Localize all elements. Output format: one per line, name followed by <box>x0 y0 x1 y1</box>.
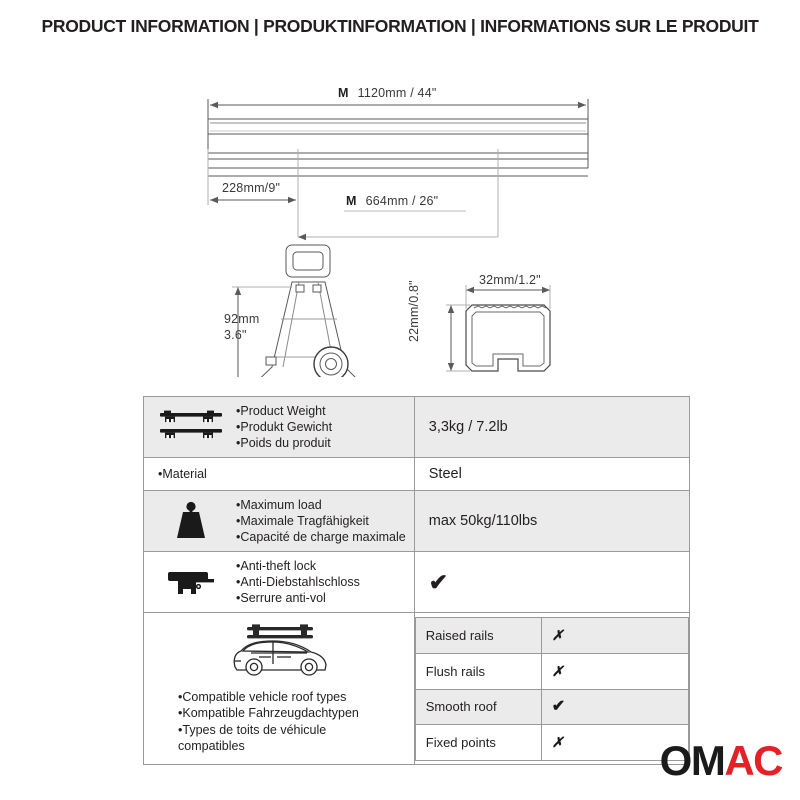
label-fr: •Serrure anti-vol <box>236 590 360 606</box>
roof-type-name: Smooth roof <box>415 689 541 724</box>
roof-type-support: ✗ <box>541 653 688 689</box>
logo-red-text: AC <box>724 737 782 784</box>
cross-icon: ✗ <box>552 663 564 679</box>
label-fr: •Types de toits de véhicule <box>178 722 408 738</box>
roof-type-name: Fixed points <box>415 724 541 760</box>
anti-theft-label-cell: •Anti-theft lock •Anti-Diebstahlschloss … <box>144 552 415 613</box>
table-row: •Product Weight •Produkt Gewicht •Poids … <box>144 397 690 458</box>
max-load-labels: •Maximum load •Maximale Tragfähigkeit •C… <box>236 497 406 545</box>
roof-type-name: Flush rails <box>415 653 541 689</box>
label-de: •Kompatible Fahrzeugdachtypen <box>178 705 408 721</box>
technical-drawings: M1120mm / 44" 228mm/9" M664mm / 26" 92mm… <box>0 37 800 377</box>
table-row: •Anti-theft lock •Anti-Diebstahlschloss … <box>144 552 690 613</box>
cross-icon: ✗ <box>552 627 564 643</box>
roof-types-labels: •Compatible vehicle roof types •Kompatib… <box>152 689 408 754</box>
weight-icon <box>152 500 230 542</box>
table-row: •Material Steel <box>144 458 690 491</box>
cross-icon: ✗ <box>552 734 564 750</box>
checkmark-icon: ✔ <box>552 698 565 715</box>
product-weight-labels: •Product Weight •Produkt Gewicht •Poids … <box>236 403 332 451</box>
label-fr: •Poids du produit <box>236 435 332 451</box>
car-with-rack-icon <box>152 621 408 683</box>
roof-types-table: Raised rails ✗ Flush rails ✗ <box>415 617 689 761</box>
material-value: Steel <box>414 458 689 491</box>
label-de: •Anti-Diebstahlschloss <box>236 574 360 590</box>
product-weight-label-cell: •Product Weight •Produkt Gewicht •Poids … <box>144 397 415 458</box>
table-row: •Maximum load •Maximale Tragfähigkeit •C… <box>144 491 690 552</box>
anti-theft-labels: •Anti-theft lock •Anti-Diebstahlschloss … <box>236 558 360 606</box>
lock-icon <box>152 564 230 600</box>
crossbars-icon <box>152 407 230 447</box>
anti-theft-value: ✔ <box>414 552 689 613</box>
roof-type-row: Flush rails ✗ <box>415 653 688 689</box>
roof-types-label-cell: •Compatible vehicle roof types •Kompatib… <box>144 613 415 765</box>
product-weight-value: 3,3kg / 7.2lb <box>414 397 689 458</box>
roof-type-name: Raised rails <box>415 617 541 653</box>
omac-logo: OMAC <box>660 740 782 782</box>
label-en: •Compatible vehicle roof types <box>178 689 408 705</box>
checkmark-icon: ✔ <box>429 569 448 595</box>
material-label-cell: •Material <box>144 458 415 491</box>
roof-type-support: ✔ <box>541 689 688 724</box>
label-en: •Product Weight <box>236 403 332 419</box>
roof-type-support: ✗ <box>541 617 688 653</box>
roof-type-row: Fixed points ✗ <box>415 724 688 760</box>
label-fr: •Capacité de charge maximale <box>236 529 406 545</box>
label-en: •Material <box>158 466 207 482</box>
label-de: •Maximale Tragfähigkeit <box>236 513 406 529</box>
drawing-canvas <box>0 37 800 377</box>
roof-types-matrix-cell: Raised rails ✗ Flush rails ✗ <box>414 613 689 765</box>
specification-table: •Product Weight •Produkt Gewicht •Poids … <box>143 396 690 765</box>
roof-type-row: Smooth roof ✔ <box>415 689 688 724</box>
label-fr-cont: compatibles <box>178 738 408 754</box>
material-labels: •Material <box>152 466 207 482</box>
label-en: •Maximum load <box>236 497 406 513</box>
logo-dark-text: OM <box>660 737 725 784</box>
page-title: PRODUCT INFORMATION | PRODUKTINFORMATION… <box>0 0 800 37</box>
max-load-value: max 50kg/110lbs <box>414 491 689 552</box>
label-de: •Produkt Gewicht <box>236 419 332 435</box>
roof-type-row: Raised rails ✗ <box>415 617 688 653</box>
label-en: •Anti-theft lock <box>236 558 360 574</box>
max-load-label-cell: •Maximum load •Maximale Tragfähigkeit •C… <box>144 491 415 552</box>
table-row: •Compatible vehicle roof types •Kompatib… <box>144 613 690 765</box>
